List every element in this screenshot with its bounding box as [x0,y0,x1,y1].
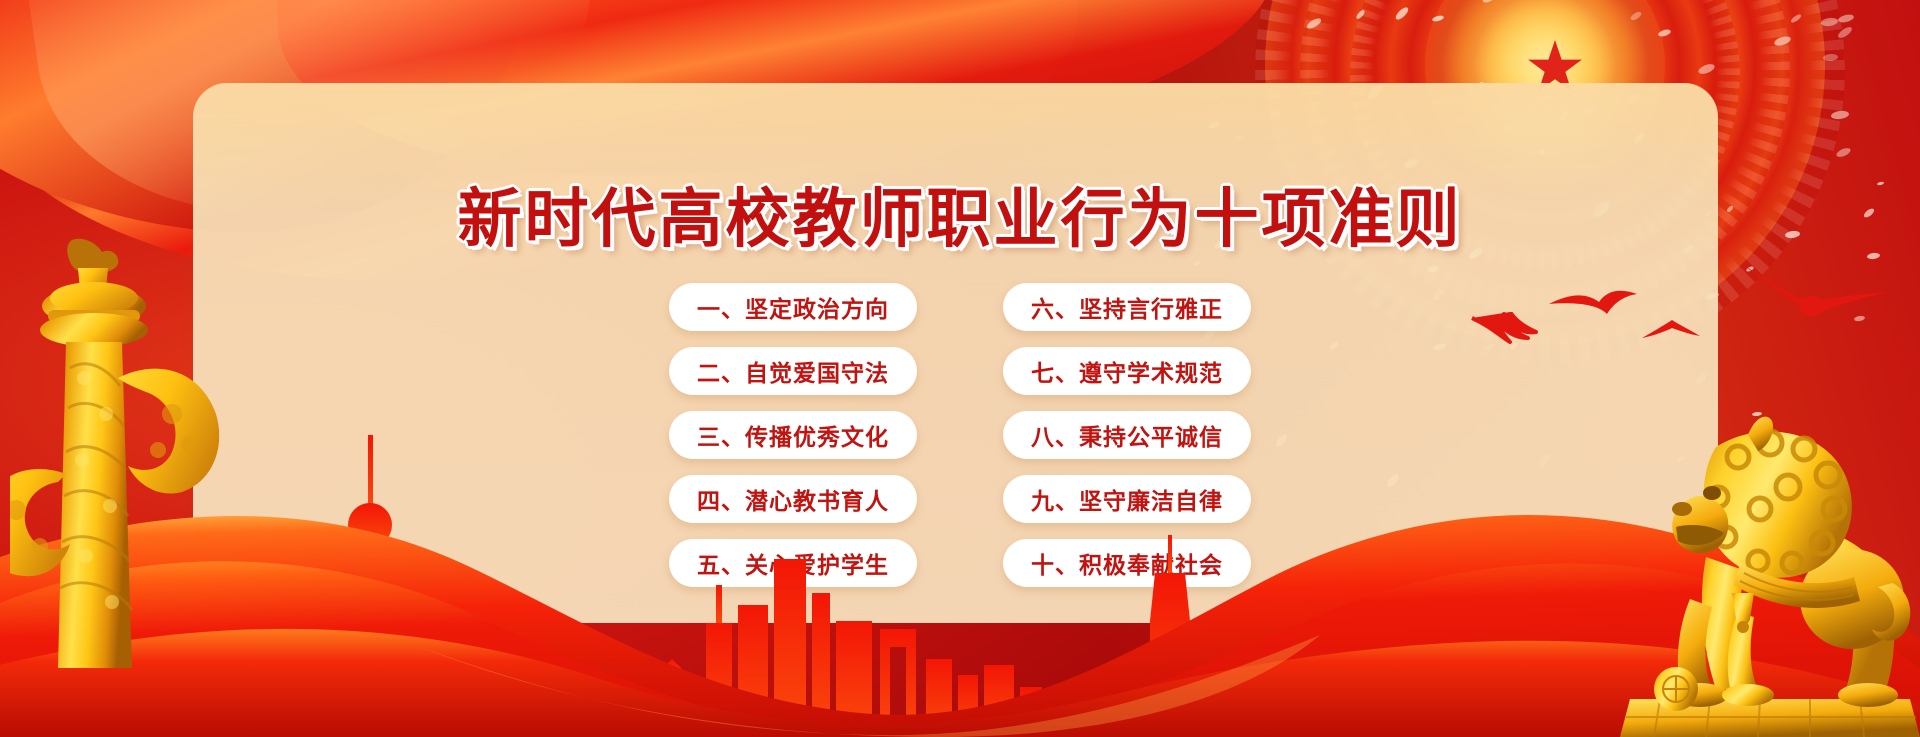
huabiao-column-icon [10,238,240,668]
principle-item[interactable]: 二、自觉爱国守法 [669,347,917,395]
principle-item[interactable]: 六、坚持言行雅正 [1003,283,1251,331]
principle-label: 六、坚持言行雅正 [1031,290,1223,324]
principle-label: 七、遵守学术规范 [1031,354,1223,388]
principle-item[interactable]: 一、坚定政治方向 [669,283,917,331]
principle-label: 一、坚定政治方向 [697,290,889,324]
principle-item[interactable]: 七、遵守学术规范 [1003,347,1251,395]
principle-label: 二、自觉爱国守法 [697,354,889,388]
guardian-lion-icon [1620,377,1920,737]
page-title: 新时代高校教师职业行为十项准则 [0,168,1920,260]
poster-banner: 新时代高校教师职业行为十项准则 一、坚定政治方向 二、自觉爱国守法 三、传播优秀… [0,0,1920,737]
